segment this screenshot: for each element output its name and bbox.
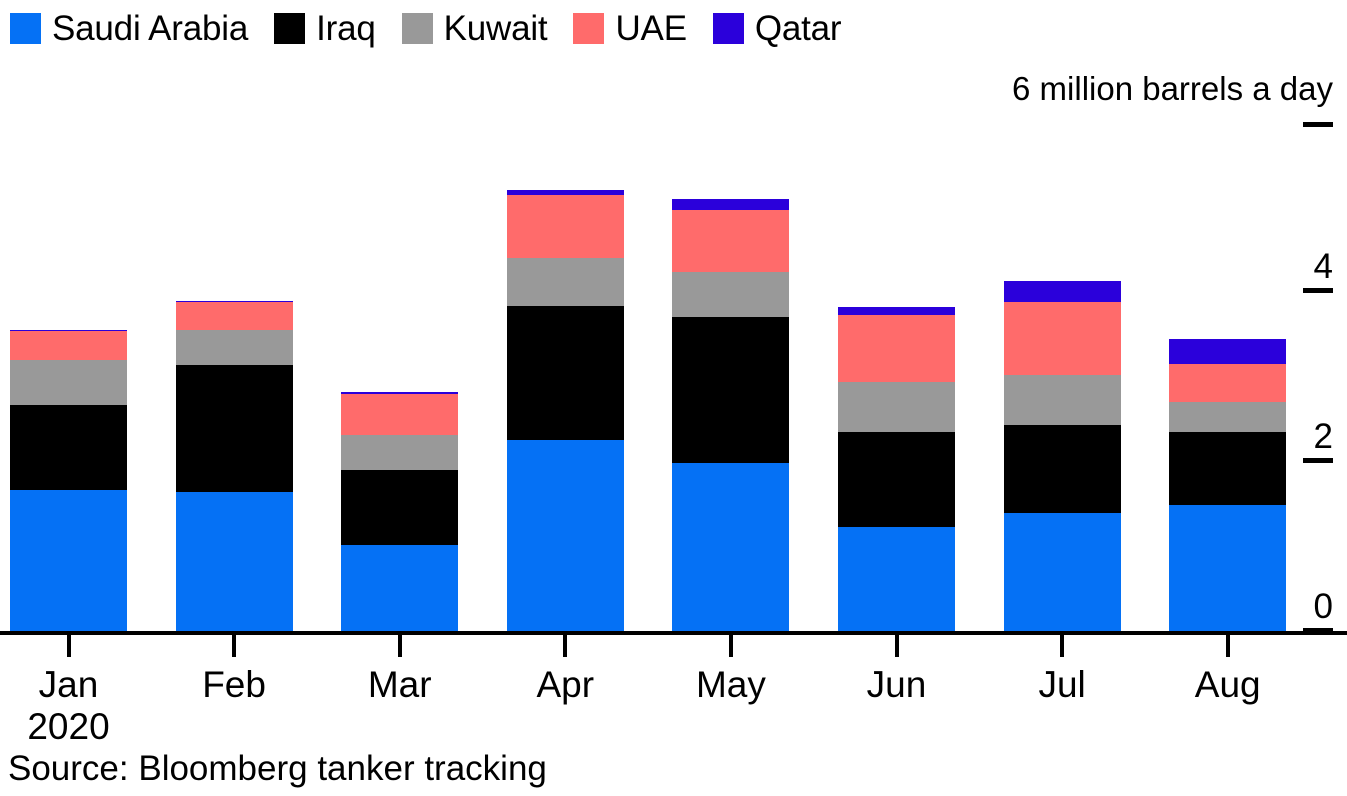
- bar-jun[interactable]: [838, 307, 955, 633]
- bar-segment-saudi-arabia[interactable]: [1004, 513, 1121, 633]
- bar-segment-kuwait[interactable]: [176, 330, 293, 365]
- bar-segment-saudi-arabia[interactable]: [176, 492, 293, 633]
- bar-mar[interactable]: [341, 392, 458, 633]
- bar-segment-uae[interactable]: [10, 331, 127, 360]
- bar-segment-iraq[interactable]: [672, 317, 789, 463]
- x-axis-label-jun: Jun: [807, 664, 987, 705]
- bar-segment-kuwait[interactable]: [1169, 402, 1286, 432]
- bar-segment-qatar[interactable]: [838, 307, 955, 315]
- x-axis-tick-mar: [398, 635, 402, 657]
- bar-segment-kuwait[interactable]: [341, 435, 458, 470]
- x-axis-label-month: Feb: [202, 664, 266, 705]
- x-axis-label-feb: Feb: [144, 664, 324, 705]
- x-axis-tick-aug: [1226, 635, 1230, 657]
- bar-segment-kuwait[interactable]: [10, 360, 127, 405]
- bar-segment-uae[interactable]: [176, 302, 293, 330]
- x-axis-label-apr: Apr: [475, 664, 655, 705]
- x-axis-tick-may: [729, 635, 733, 657]
- y-axis-tick-dash: [1303, 122, 1333, 127]
- bar-aug[interactable]: [1169, 339, 1286, 633]
- source-caption: Source: Bloomberg tanker tracking: [8, 750, 547, 788]
- bar-jan[interactable]: [10, 330, 127, 633]
- bar-segment-uae[interactable]: [1169, 364, 1286, 402]
- bar-segment-iraq[interactable]: [1004, 425, 1121, 513]
- x-axis-label-month: Jul: [1038, 664, 1085, 705]
- bar-may[interactable]: [672, 199, 789, 633]
- bar-segment-kuwait[interactable]: [672, 272, 789, 317]
- x-axis-label-month: Apr: [537, 664, 595, 705]
- x-axis-label-jan: Jan2020: [0, 664, 159, 749]
- x-axis-tick-feb: [232, 635, 236, 657]
- bar-segment-iraq[interactable]: [176, 365, 293, 492]
- bar-segment-kuwait[interactable]: [838, 382, 955, 432]
- bar-segment-saudi-arabia[interactable]: [507, 440, 624, 633]
- x-axis-label-may: May: [641, 664, 821, 705]
- bar-jul[interactable]: [1004, 281, 1121, 633]
- bar-segment-iraq[interactable]: [341, 470, 458, 545]
- bar-segment-uae[interactable]: [507, 195, 624, 258]
- bar-segment-qatar[interactable]: [672, 199, 789, 210]
- bar-segment-qatar[interactable]: [1004, 281, 1121, 302]
- x-axis-label-month: Aug: [1195, 664, 1261, 705]
- bar-apr[interactable]: [507, 190, 624, 633]
- bar-segment-iraq[interactable]: [838, 432, 955, 526]
- bar-segment-iraq[interactable]: [1169, 432, 1286, 505]
- bar-segment-kuwait[interactable]: [507, 258, 624, 306]
- y-axis-tick-label: 4: [1253, 249, 1333, 284]
- x-axis-label-jul: Jul: [972, 664, 1152, 705]
- bar-segment-saudi-arabia[interactable]: [341, 545, 458, 633]
- x-axis-label-month: Jun: [867, 664, 927, 705]
- x-axis-label-mar: Mar: [310, 664, 490, 705]
- x-axis-tick-jul: [1060, 635, 1064, 657]
- bar-segment-kuwait[interactable]: [1004, 375, 1121, 425]
- x-axis-label-month: Mar: [368, 664, 432, 705]
- bar-feb[interactable]: [176, 301, 293, 633]
- stacked-bar-chart: 6 million barrels a day 420 Jan2020FebMa…: [0, 0, 1347, 796]
- x-axis-tick-jun: [895, 635, 899, 657]
- bar-segment-iraq[interactable]: [507, 306, 624, 440]
- x-axis-tick-jan: [67, 635, 71, 657]
- x-axis-label-month: Jan: [39, 664, 99, 705]
- bar-segment-uae[interactable]: [838, 315, 955, 382]
- bar-segment-uae[interactable]: [1004, 302, 1121, 374]
- y-axis-tick-dash: [1303, 458, 1333, 463]
- y-axis-tick-dash: [1303, 288, 1333, 293]
- x-axis-label-year: 2020: [0, 705, 159, 749]
- x-axis-label-aug: Aug: [1138, 664, 1318, 705]
- x-axis-label-month: May: [696, 664, 766, 705]
- bar-segment-uae[interactable]: [341, 394, 458, 435]
- bar-segment-saudi-arabia[interactable]: [1169, 505, 1286, 633]
- bar-segment-iraq[interactable]: [10, 405, 127, 490]
- bar-segment-saudi-arabia[interactable]: [672, 463, 789, 633]
- y-axis-tick-4: 4: [1253, 249, 1333, 293]
- y-axis-unit-title: 6 million barrels a day: [1012, 72, 1333, 105]
- x-axis-baseline: [0, 631, 1347, 635]
- y-axis-tick-6: [1253, 118, 1333, 127]
- x-axis-tick-apr: [563, 635, 567, 657]
- bar-segment-saudi-arabia[interactable]: [10, 490, 127, 633]
- bar-segment-qatar[interactable]: [1169, 339, 1286, 364]
- bar-segment-uae[interactable]: [672, 210, 789, 272]
- bar-segment-saudi-arabia[interactable]: [838, 527, 955, 633]
